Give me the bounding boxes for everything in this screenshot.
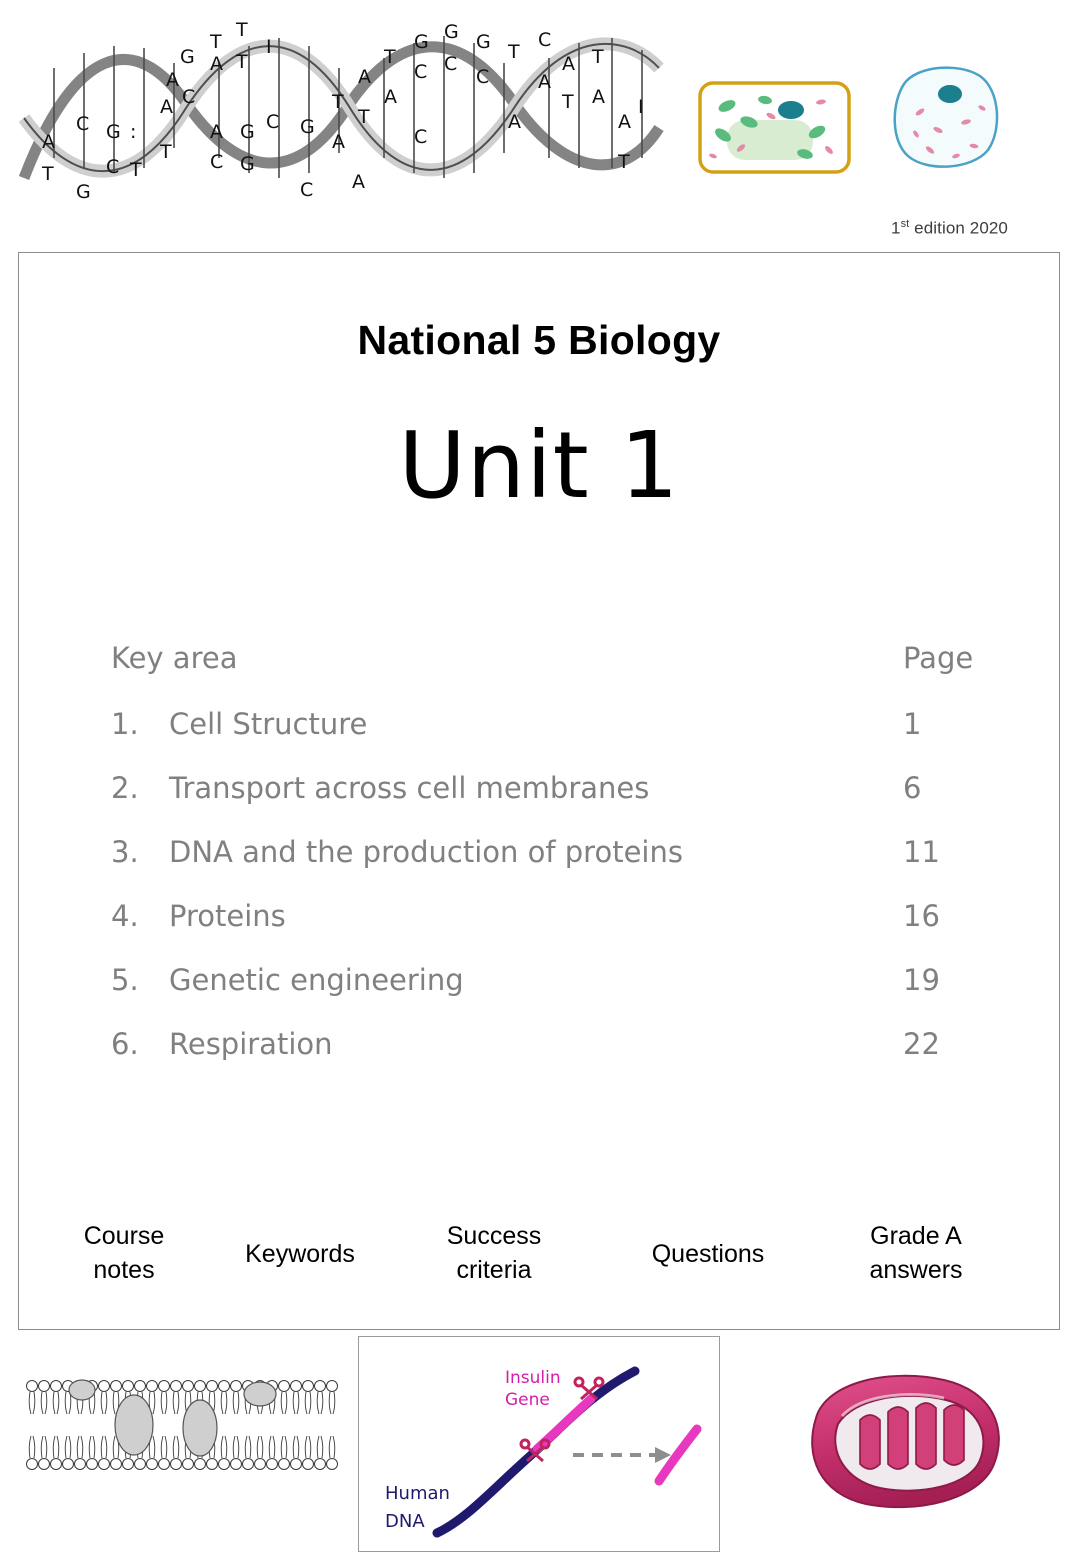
svg-text:G: G xyxy=(444,21,459,43)
contents-row-label: DNA and the production of proteins xyxy=(169,835,851,869)
cover-page-box: National 5 Biology Unit 1 Key area Page … xyxy=(18,252,1060,1330)
svg-text:T: T xyxy=(129,159,142,181)
contents-row-label: Genetic engineering xyxy=(169,963,851,997)
page-title: National 5 Biology xyxy=(19,317,1059,364)
svg-text:C: C xyxy=(414,126,427,148)
nav-item-line2: criteria xyxy=(409,1253,579,1287)
nav-item-line1: Success xyxy=(409,1219,579,1253)
contents-row-number: 5. xyxy=(111,963,169,997)
svg-text:T: T xyxy=(235,19,248,41)
svg-text:G: G xyxy=(300,116,315,138)
contents-row[interactable]: 6. Respiration 22 xyxy=(111,1027,971,1061)
contents-row-page: 16 xyxy=(851,899,971,933)
nav-item-line1: Grade A xyxy=(831,1219,1001,1253)
svg-text:T: T xyxy=(561,91,574,113)
svg-text:Human: Human xyxy=(385,1483,450,1504)
phospholipid-membrane-icon xyxy=(22,1370,338,1480)
contents-row-number: 3. xyxy=(111,835,169,869)
svg-text:C: C xyxy=(414,61,427,83)
svg-text:C: C xyxy=(210,151,223,173)
contents-row[interactable]: 4. Proteins 16 xyxy=(111,899,971,933)
bottom-nav-row: Course notes Keywords Success criteria Q… xyxy=(19,1213,1059,1293)
svg-text:G: G xyxy=(76,181,91,203)
contents-row-page: 22 xyxy=(851,1027,971,1061)
contents-header-page: Page xyxy=(851,641,971,675)
svg-text:A: A xyxy=(592,86,605,108)
svg-text:A: A xyxy=(332,131,345,153)
contents-row-page: 6 xyxy=(851,771,971,805)
nav-item-line1: Keywords xyxy=(215,1237,385,1271)
animal-cell-icon xyxy=(886,60,1006,175)
contents-row-number: 1. xyxy=(111,707,169,741)
svg-text:A: A xyxy=(160,96,173,118)
svg-text:A: A xyxy=(352,171,365,193)
svg-text:C: C xyxy=(476,66,489,88)
svg-text:Insulin: Insulin xyxy=(505,1368,561,1388)
svg-text:T: T xyxy=(383,46,396,68)
contents-row-number: 6. xyxy=(111,1027,169,1061)
svg-text:T: T xyxy=(41,163,54,185)
svg-text:DNA: DNA xyxy=(385,1511,425,1532)
svg-text:G: G xyxy=(180,46,195,68)
top-artwork-band: AT CG GC :T AT A G C TA AC TT GG IC GC T… xyxy=(0,0,1080,215)
svg-text:A: A xyxy=(210,53,223,75)
dna-double-helix-icon: AT CG GC :T AT A G C TA AC TT GG IC GC T… xyxy=(14,8,664,208)
svg-text:C: C xyxy=(444,53,457,75)
contents-row[interactable]: 2. Transport across cell membranes 6 xyxy=(111,771,971,805)
svg-text:T: T xyxy=(617,151,630,173)
contents-row-label: Transport across cell membranes xyxy=(169,771,851,805)
contents-row[interactable]: 1. Cell Structure 1 xyxy=(111,707,971,741)
nav-item-line1: Questions xyxy=(623,1237,793,1271)
contents-row-number: 4. xyxy=(111,899,169,933)
nav-item-grade-a-answers[interactable]: Grade A answers xyxy=(831,1219,1001,1287)
svg-text:A: A xyxy=(42,131,55,153)
svg-text:G: G xyxy=(240,153,255,175)
nav-item-line1: Course xyxy=(39,1219,209,1253)
unit-title: Unit 1 xyxy=(19,412,1059,519)
contents-header-row: Key area Page xyxy=(111,641,971,675)
contents-row[interactable]: 3. DNA and the production of proteins 11 xyxy=(111,835,971,869)
svg-text:C: C xyxy=(182,86,195,108)
svg-text:I: I xyxy=(266,36,272,58)
edition-label: 1st edition 2020 xyxy=(891,218,1008,239)
nav-item-line2: notes xyxy=(39,1253,209,1287)
svg-text:G: G xyxy=(414,31,429,53)
genetic-engineering-figure: Insulin Gene Human DNA xyxy=(358,1336,720,1552)
contents-table: Key area Page 1. Cell Structure 1 2. Tra… xyxy=(111,641,971,1091)
svg-text:C: C xyxy=(106,156,119,178)
svg-text:I: I xyxy=(638,96,644,118)
contents-header-key-area: Key area xyxy=(111,641,851,675)
svg-text:A: A xyxy=(508,111,521,133)
contents-row-number: 2. xyxy=(111,771,169,805)
svg-text:A: A xyxy=(562,53,575,75)
nav-item-course-notes[interactable]: Course notes xyxy=(39,1219,209,1287)
svg-text:G: G xyxy=(476,31,491,53)
nav-item-questions[interactable]: Questions xyxy=(623,1237,793,1271)
svg-text:T: T xyxy=(357,106,370,128)
svg-text:T: T xyxy=(235,51,248,73)
svg-text:A: A xyxy=(538,71,551,93)
nav-item-keywords[interactable]: Keywords xyxy=(215,1237,385,1271)
nav-item-line2: answers xyxy=(831,1253,1001,1287)
contents-row-label: Respiration xyxy=(169,1027,851,1061)
svg-text:A: A xyxy=(210,121,223,143)
svg-text:C: C xyxy=(538,29,551,51)
contents-row[interactable]: 5. Genetic engineering 19 xyxy=(111,963,971,997)
svg-text:A: A xyxy=(384,86,397,108)
svg-text:A: A xyxy=(166,69,179,91)
svg-text::: : xyxy=(130,121,136,143)
plant-cell-icon xyxy=(697,80,852,175)
svg-text:C: C xyxy=(266,111,279,133)
contents-row-page: 11 xyxy=(851,835,971,869)
svg-text:Gene: Gene xyxy=(505,1390,550,1410)
svg-text:T: T xyxy=(209,31,222,53)
svg-text:A: A xyxy=(358,66,371,88)
svg-text:T: T xyxy=(159,141,172,163)
contents-row-page: 1 xyxy=(851,707,971,741)
nav-item-success-criteria[interactable]: Success criteria xyxy=(409,1219,579,1287)
svg-text:T: T xyxy=(591,46,604,68)
svg-text:C: C xyxy=(76,113,89,135)
contents-row-label: Cell Structure xyxy=(169,707,851,741)
contents-row-page: 19 xyxy=(851,963,971,997)
svg-text:A: A xyxy=(618,111,631,133)
svg-text:T: T xyxy=(331,91,344,113)
svg-text:T: T xyxy=(507,41,520,63)
contents-row-label: Proteins xyxy=(169,899,851,933)
mitochondrion-icon xyxy=(786,1366,1011,1516)
svg-text:G: G xyxy=(240,121,255,143)
svg-text:G: G xyxy=(106,121,121,143)
svg-text:C: C xyxy=(300,179,313,201)
